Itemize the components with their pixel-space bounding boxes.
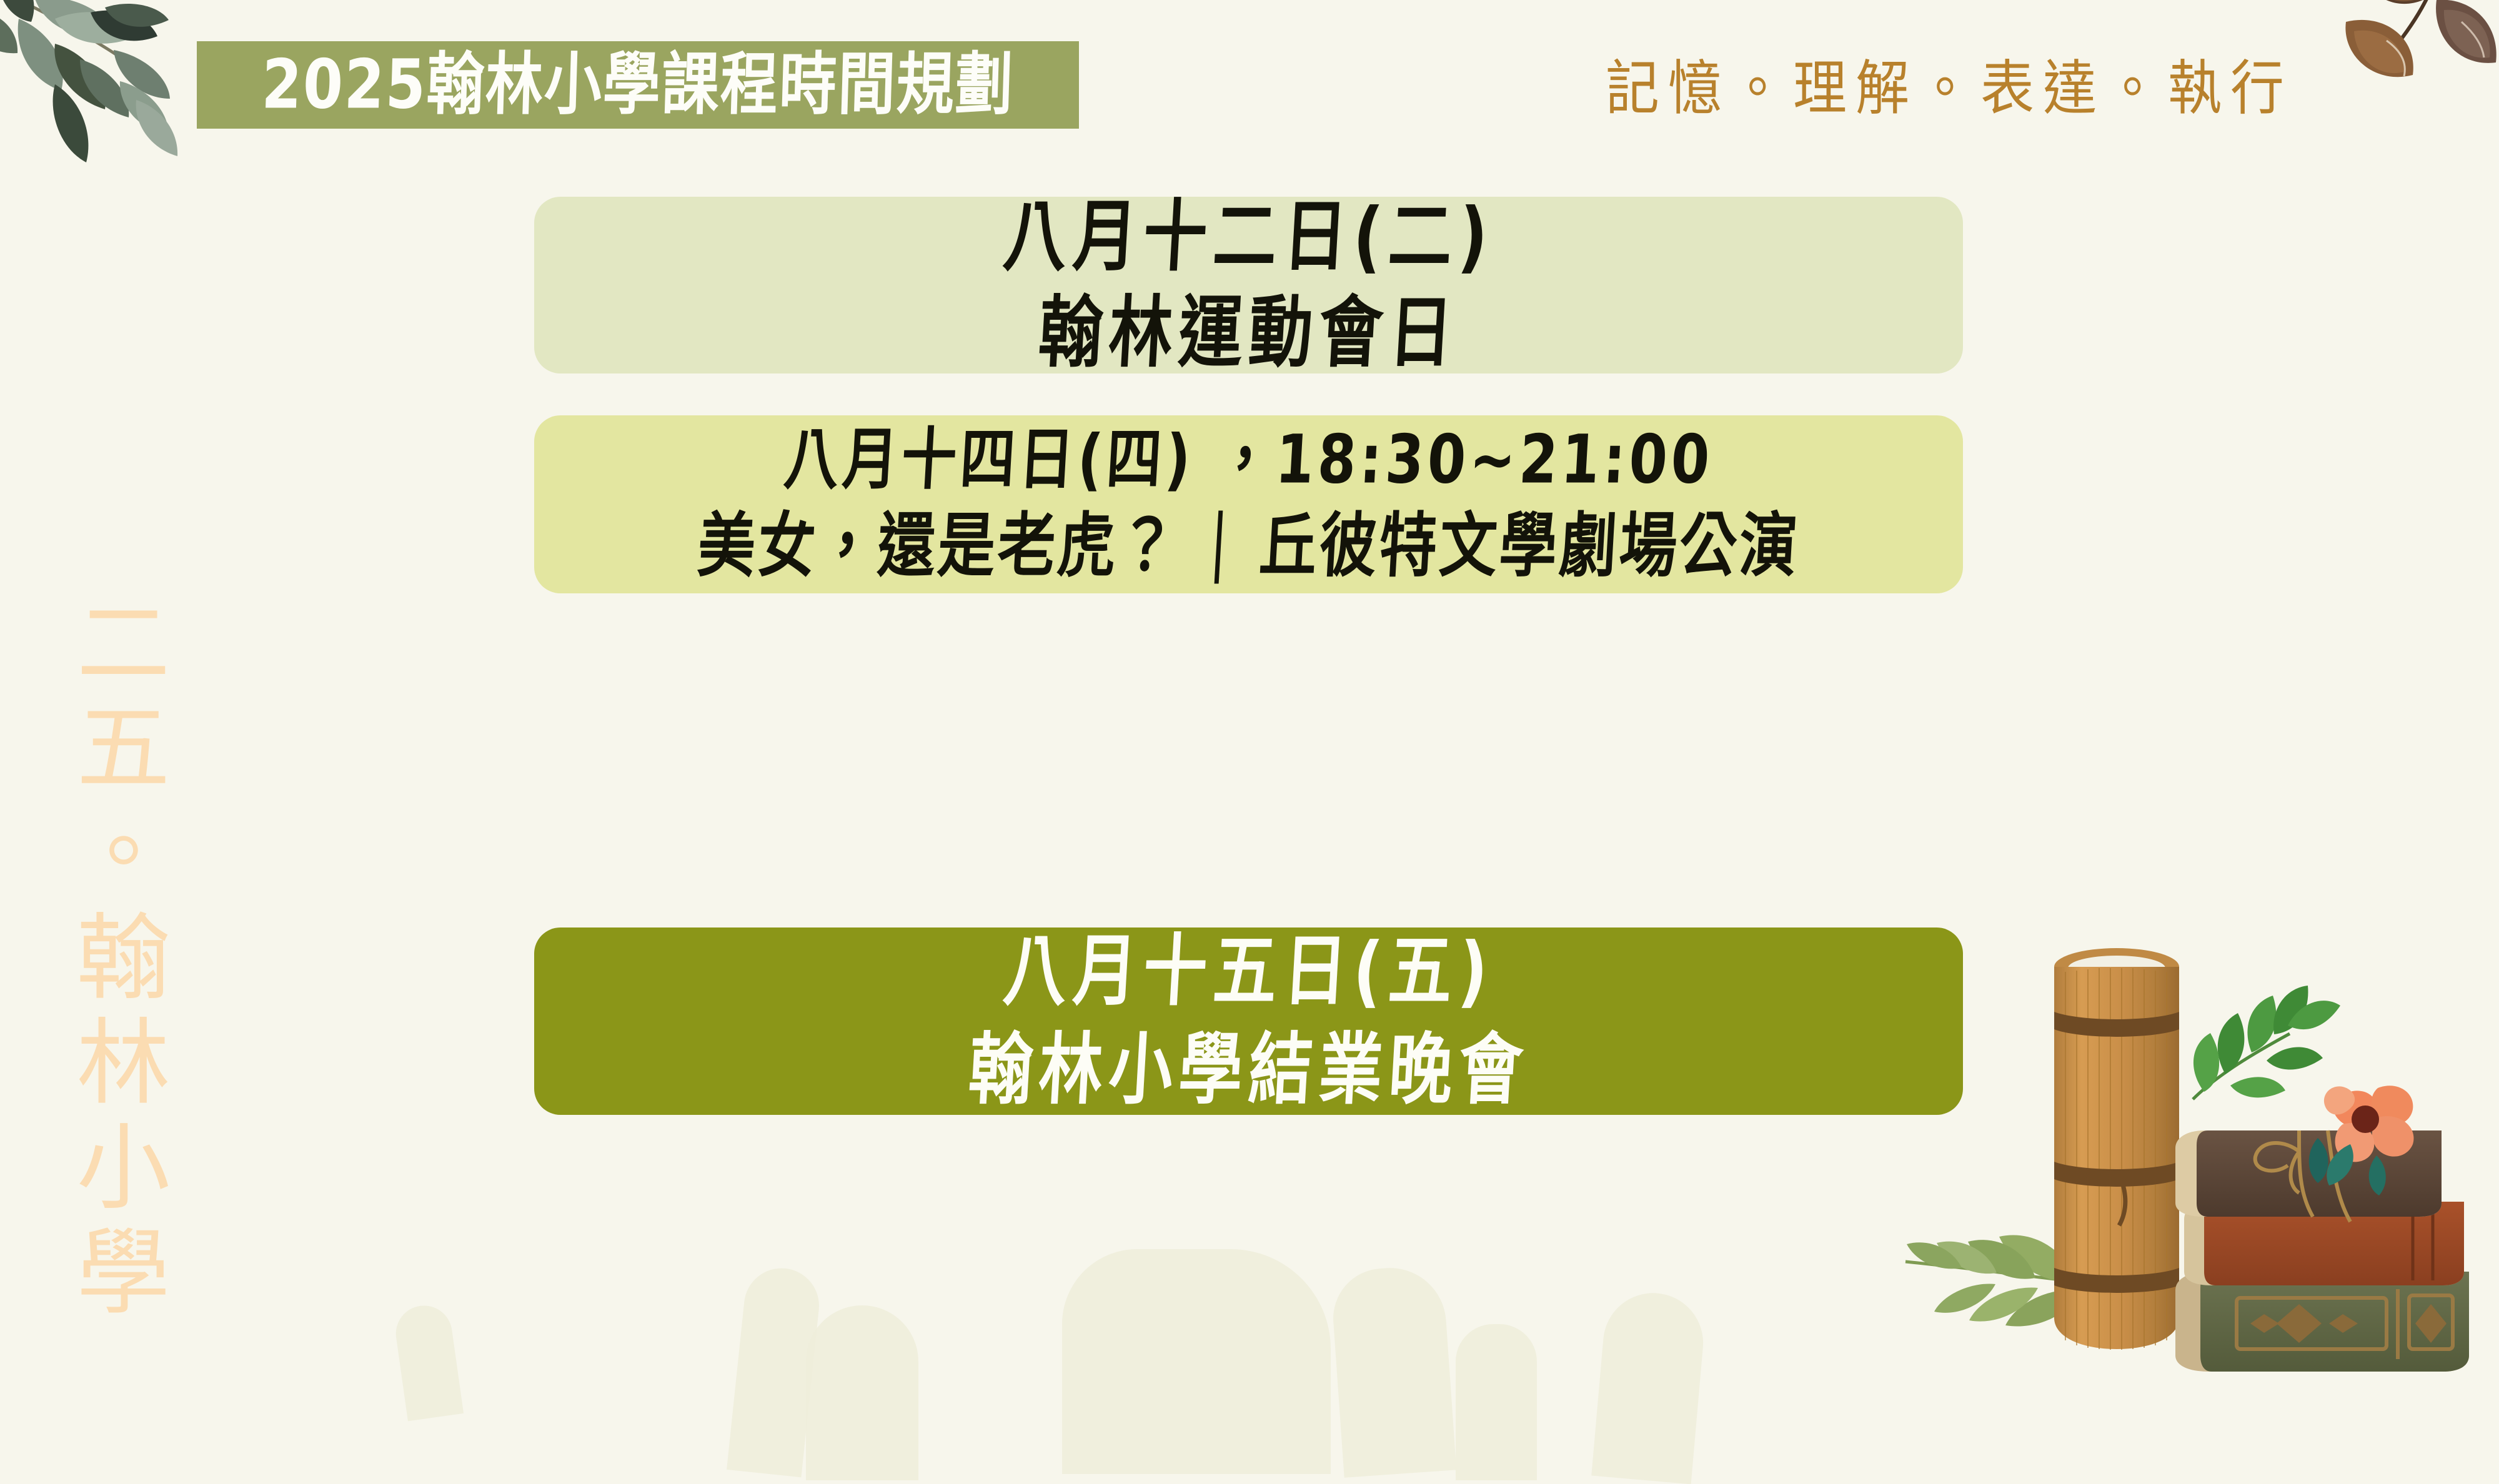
title-separator-bar — [1215, 510, 1223, 583]
event-title-2-part-2: 丘彼特文學劇場公演 — [1257, 505, 1801, 586]
event-card-1: 八月十二日(二) 翰林運動會日 — [534, 197, 1963, 373]
event-title-2-part-1: 美女，還是老虎？ — [695, 505, 1180, 586]
bamboo-scroll-and-books-illustration — [2005, 918, 2480, 1405]
event-title-3: 翰林小學結業晚會 — [966, 1032, 1531, 1109]
event-card-2: 八月十四日(四) ，18:30~21:00 美女，還是老虎？ 丘彼特文學劇場公演 — [534, 415, 1963, 593]
side-brand-vertical-text: 二五。翰林小學 — [31, 593, 175, 1328]
event-date-3: 八月十五日(五) — [1001, 933, 1496, 1011]
event-title-2: 美女，還是老虎？ 丘彼特文學劇場公演 — [696, 510, 1802, 583]
event-date-2: 八月十四日(四) ，18:30~21:00 — [782, 426, 1715, 493]
tagline: 記憶。理解。表達。執行 — [1606, 40, 2293, 126]
page-title-banner: 2025翰林小學課程時間規劃 — [197, 41, 1079, 129]
event-date-1: 八月十二日(二) — [1001, 198, 1496, 275]
event-card-3: 八月十五日(五) 翰林小學結業晚會 — [534, 927, 1963, 1115]
event-title-1: 翰林運動會日 — [1036, 294, 1461, 372]
page-title: 2025翰林小學課程時間規劃 — [261, 51, 1015, 119]
